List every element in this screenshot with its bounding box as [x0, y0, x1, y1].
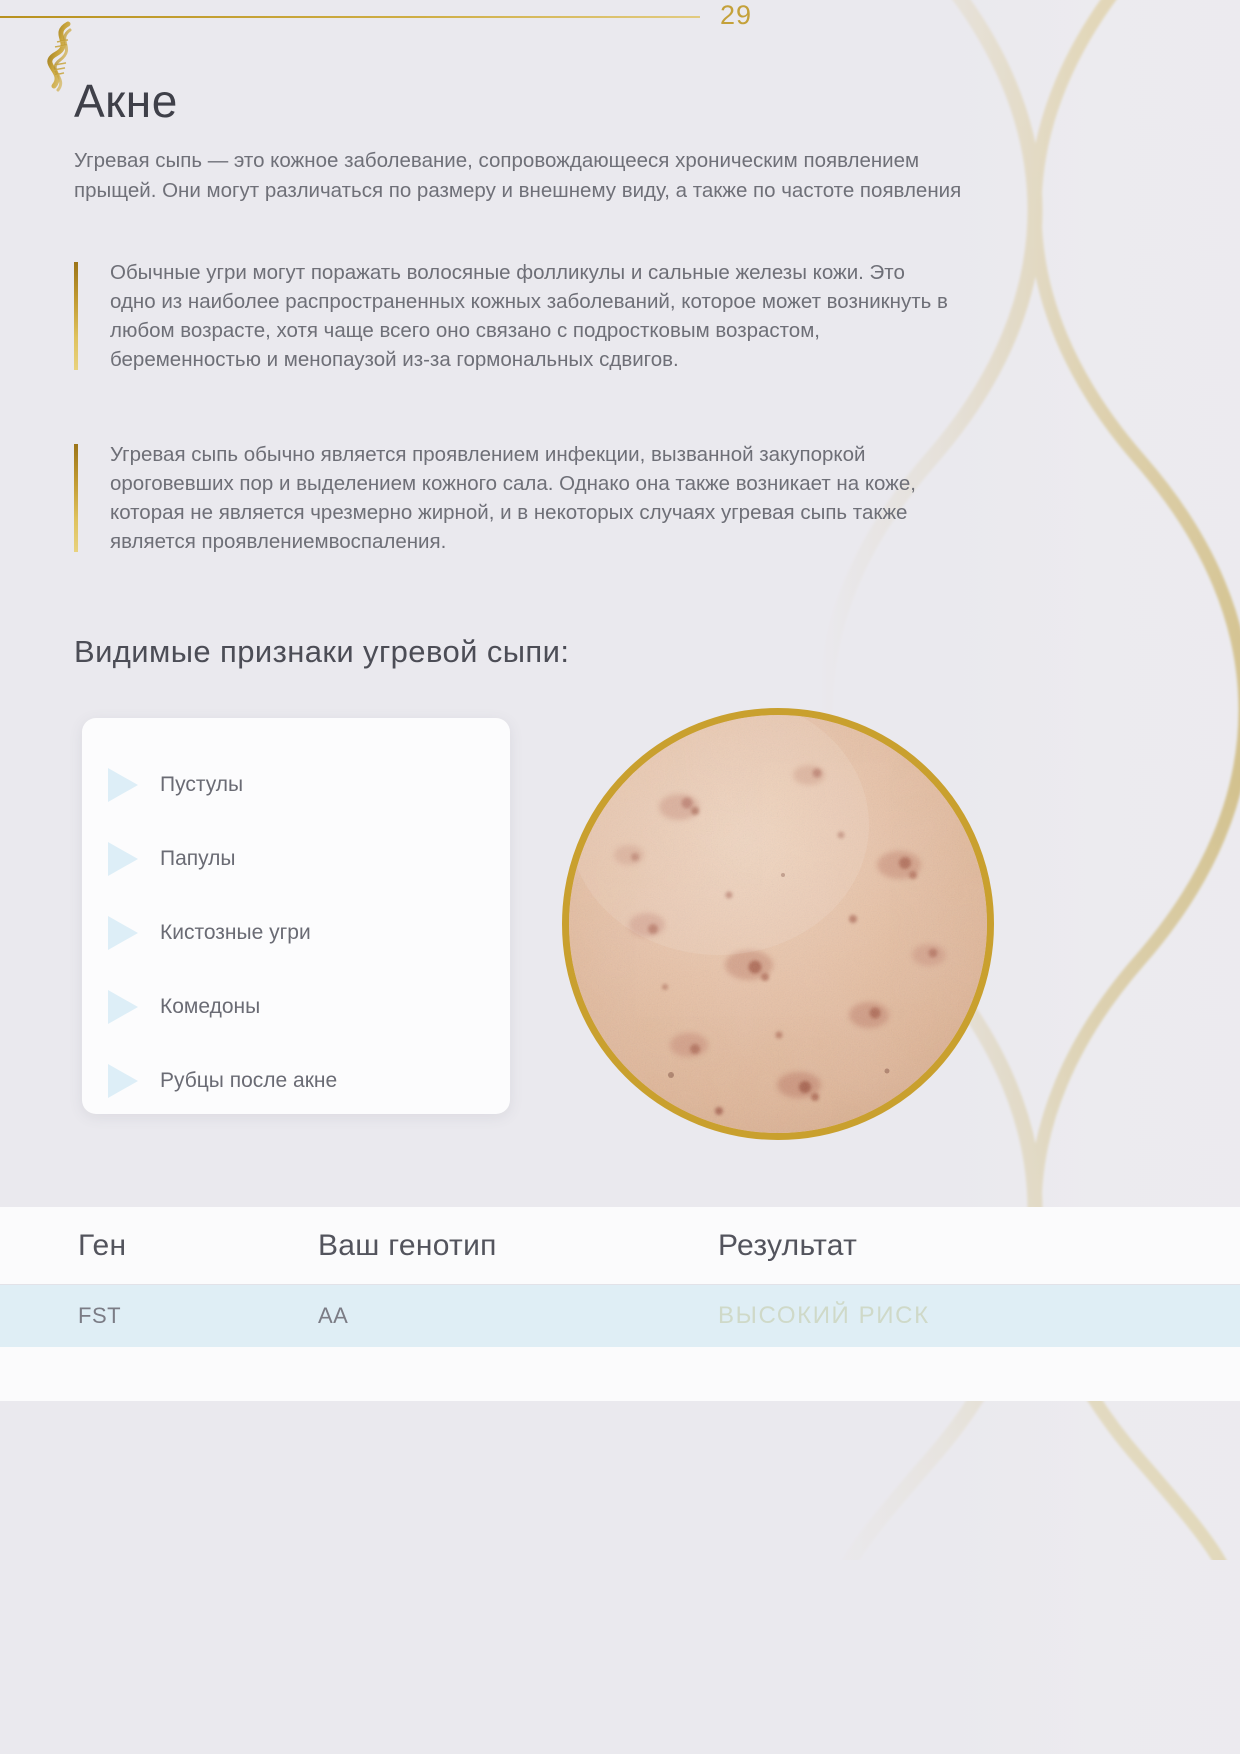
quote-block-2: Угревая сыпь обычно является проявлением… — [74, 440, 954, 556]
quote-block-1-text: Обычные угри могут поражать волосяные фо… — [110, 261, 948, 371]
triangle-right-icon — [108, 1064, 138, 1098]
triangle-right-icon — [108, 768, 138, 802]
table-header-row: Ген Ваш генотип Результат — [0, 1207, 1240, 1285]
sign-label: Пустулы — [160, 773, 243, 797]
triangle-right-icon — [108, 990, 138, 1024]
quote-block-1: Обычные угри могут поражать волосяные фо… — [74, 258, 954, 374]
column-header-result: Результат — [718, 1229, 1240, 1263]
cell-gene: FST — [0, 1303, 318, 1329]
quote-block-2-text: Угревая сыпь обычно является проявлением… — [110, 443, 916, 553]
signs-card: Пустулы Папулы Кистозные угри Комедоны Р… — [82, 718, 510, 1114]
list-item: Пустулы — [82, 748, 510, 822]
list-item: Комедоны — [82, 970, 510, 1044]
signs-section-heading: Видимые признаки угревой сыпи: — [74, 634, 569, 670]
sign-label: Комедоны — [160, 995, 260, 1019]
triangle-right-icon — [108, 842, 138, 876]
table-footer-band — [0, 1373, 1240, 1401]
acne-skin-photo-inner — [569, 715, 987, 1133]
table-row-spacer — [0, 1347, 1240, 1373]
table-row: FST AA ВЫСОКИЙ РИСК — [0, 1285, 1240, 1347]
sign-label: Папулы — [160, 847, 236, 871]
list-item: Рубцы после акне — [82, 1044, 510, 1118]
status-badge: ВЫСОКИЙ РИСК — [718, 1302, 1240, 1330]
triangle-right-icon — [108, 916, 138, 950]
intro-paragraph: Угревая сыпь — это кожное заболевание, с… — [74, 146, 964, 206]
list-item: Кистозные угри — [82, 896, 510, 970]
footer-gold-rule — [0, 16, 700, 18]
cell-genotype: AA — [318, 1303, 718, 1329]
list-item: Папулы — [82, 822, 510, 896]
sign-label: Кистозные угри — [160, 921, 311, 945]
column-header-genotype: Ваш генотип — [318, 1229, 718, 1263]
page-title: Акне — [74, 74, 178, 128]
results-table: Ген Ваш генотип Результат FST AA ВЫСОКИЙ… — [0, 1207, 1240, 1401]
column-header-gene: Ген — [0, 1229, 318, 1263]
page-number: 29 — [720, 0, 752, 31]
acne-skin-photo — [562, 708, 994, 1140]
sign-label: Рубцы после акне — [160, 1069, 337, 1093]
